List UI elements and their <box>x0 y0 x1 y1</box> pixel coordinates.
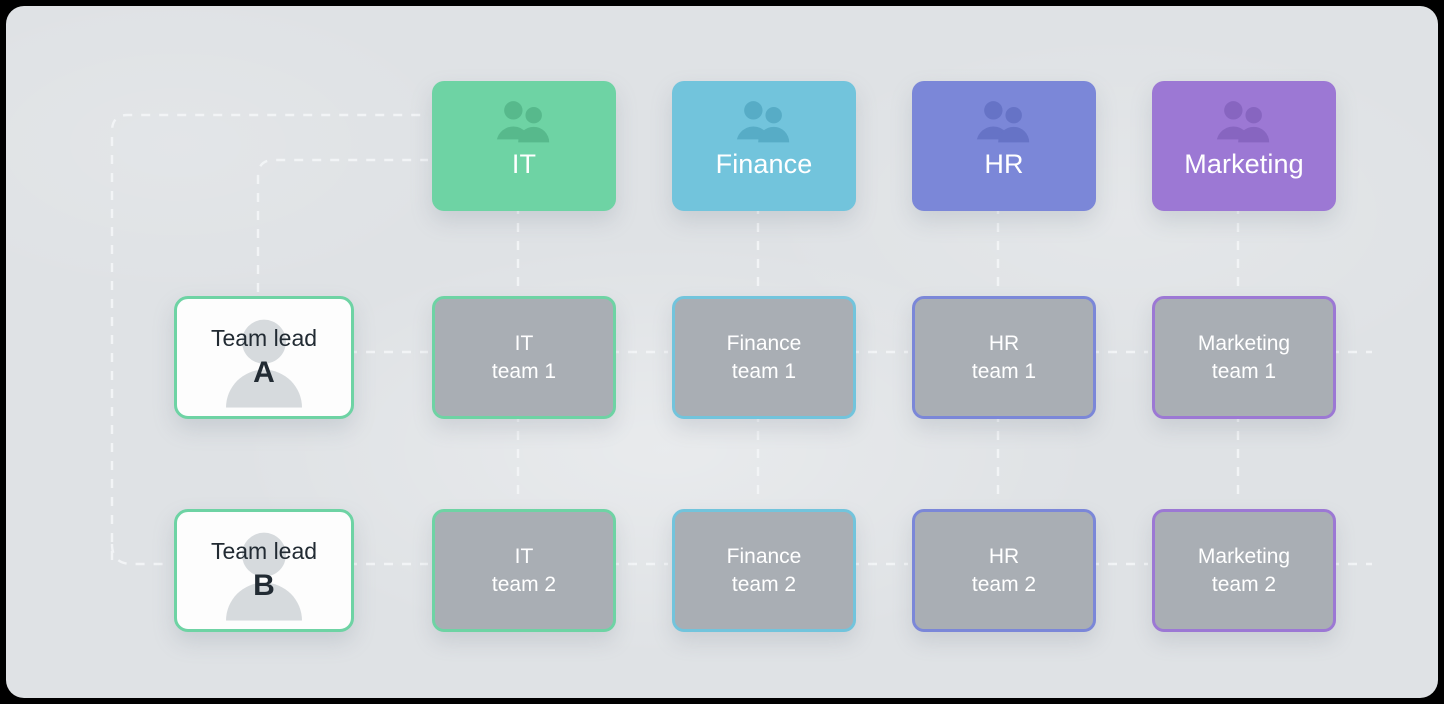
team-label: HRteam 2 <box>972 543 1036 599</box>
people-icon <box>733 99 795 143</box>
team-label: Financeteam 2 <box>727 543 802 599</box>
team-card-it-2[interactable]: ITteam 2 <box>432 509 616 632</box>
team-card-finance-2[interactable]: Financeteam 2 <box>672 509 856 632</box>
team-card-marketing-2[interactable]: Marketingteam 2 <box>1152 509 1336 632</box>
team-card-it-1[interactable]: ITteam 1 <box>432 296 616 419</box>
team-lead-card-a[interactable]: Team lead A <box>174 296 354 419</box>
dept-label: IT <box>512 149 536 179</box>
team-label: Marketingteam 2 <box>1198 543 1290 599</box>
team-lead-title: Team lead <box>211 325 317 352</box>
team-card-hr-2[interactable]: HRteam 2 <box>912 509 1096 632</box>
dept-label: Finance <box>716 149 813 179</box>
people-icon <box>973 99 1035 143</box>
dept-label: Marketing <box>1184 149 1303 179</box>
team-label: HRteam 1 <box>972 330 1036 386</box>
team-card-finance-1[interactable]: Financeteam 1 <box>672 296 856 419</box>
team-lead-card-b[interactable]: Team lead B <box>174 509 354 632</box>
link-left-to-leadB <box>112 544 168 564</box>
dept-card-marketing[interactable]: Marketing <box>1152 81 1336 211</box>
diagram-stage: IT Finance HR <box>0 0 1444 704</box>
team-card-marketing-1[interactable]: Marketingteam 1 <box>1152 296 1336 419</box>
dept-card-hr[interactable]: HR <box>912 81 1096 211</box>
people-icon <box>493 99 555 143</box>
team-lead-key: A <box>211 356 317 390</box>
team-card-hr-1[interactable]: HRteam 1 <box>912 296 1096 419</box>
people-icon <box>1213 99 1275 143</box>
dept-card-it[interactable]: IT <box>432 81 616 211</box>
team-lead-key: B <box>211 569 317 603</box>
team-lead-text: Team lead B <box>211 538 317 603</box>
team-label: ITteam 2 <box>492 543 556 599</box>
dept-card-finance[interactable]: Finance <box>672 81 856 211</box>
team-lead-text: Team lead A <box>211 325 317 390</box>
dept-label: HR <box>984 149 1023 179</box>
team-label: Marketingteam 1 <box>1198 330 1290 386</box>
team-label: ITteam 1 <box>492 330 556 386</box>
team-lead-title: Team lead <box>211 538 317 565</box>
link-leadA-to-it-header <box>258 160 428 292</box>
team-label: Financeteam 1 <box>727 330 802 386</box>
org-chart-canvas: IT Finance HR <box>6 6 1438 698</box>
